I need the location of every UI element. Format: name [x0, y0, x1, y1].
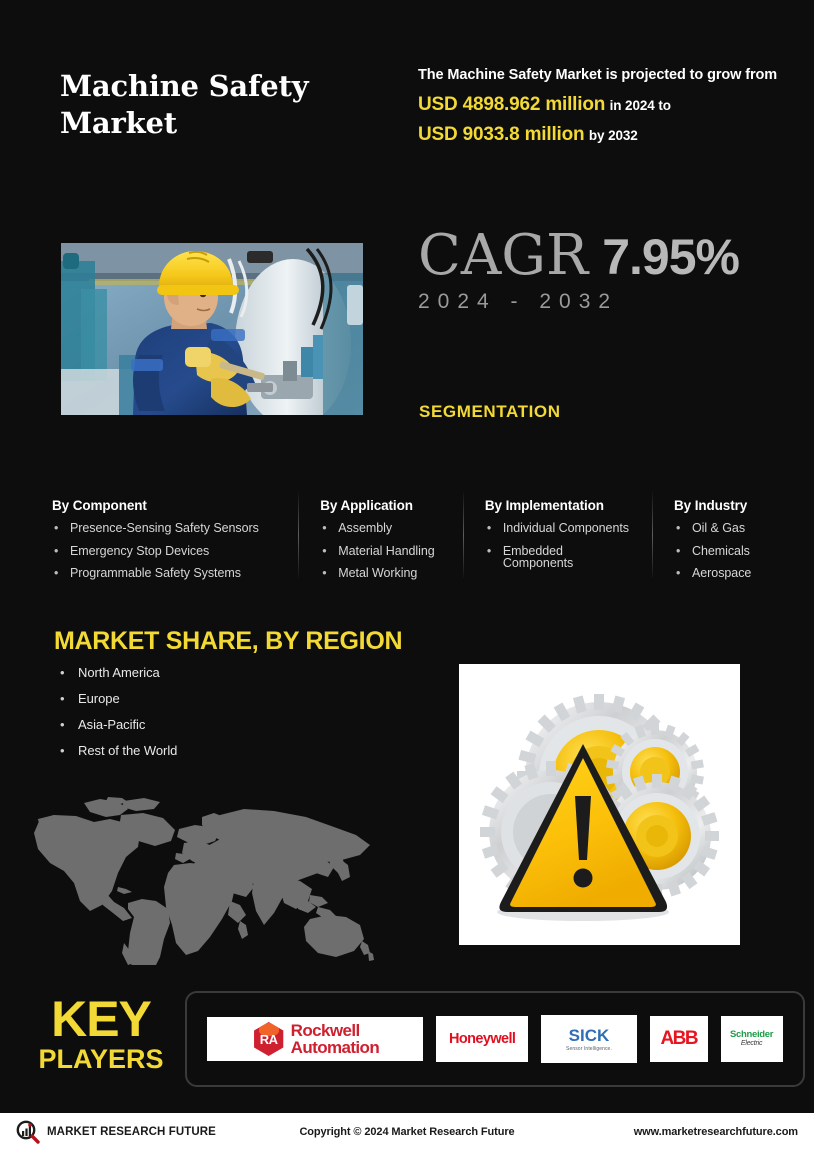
warning-triangle-gears-image: [459, 664, 740, 945]
bullet-icon: •: [322, 545, 326, 558]
segmentation-list: •Oil & Gas •Chemicals •Aerospace: [674, 522, 750, 580]
segmentation-list: •Presence-Sensing Safety Sensors •Emerge…: [52, 522, 276, 580]
industrial-worker-photo: [61, 243, 363, 415]
bullet-icon: •: [487, 545, 491, 558]
key-players-line1: KEY: [26, 996, 176, 1043]
list-item-label: Material Handling: [338, 544, 434, 558]
list-item-label: Europe: [78, 691, 120, 706]
schneider-line1: Schneider: [730, 1030, 773, 1040]
list-item: •North America: [56, 665, 177, 680]
market-share-region-list: •North America •Europe •Asia-Pacific •Re…: [56, 665, 177, 769]
rockwell-badge-icon: RA: [252, 1022, 286, 1056]
footer-copyright: Copyright © 2024 Market Research Future: [246, 1126, 568, 1138]
logo-honeywell: Honeywell: [436, 1016, 528, 1062]
segmentation-list: •Individual Components •Embedded Compone…: [485, 522, 630, 570]
rockwell-line1: Rockwell: [291, 1022, 379, 1039]
list-item: •Assembly: [320, 522, 441, 535]
projection-end-tail: by 2032: [589, 128, 638, 143]
rockwell-logo-wrap: RA Rockwell Automation: [246, 1022, 385, 1056]
segmentation-heading: By Application: [320, 498, 441, 513]
title-block: Machine Safety Market: [60, 68, 390, 142]
list-item-label: Individual Components: [503, 521, 629, 535]
list-item: •Asia-Pacific: [56, 717, 177, 732]
list-item-label: Programmable Safety Systems: [70, 566, 241, 580]
list-item: •Metal Working: [320, 567, 441, 580]
bullet-icon: •: [487, 522, 491, 535]
segmentation-column-industry: By Industry •Oil & Gas •Chemicals •Aeros…: [644, 498, 764, 590]
footer-brand-text: MARKET RESEARCH FUTURE: [47, 1126, 216, 1138]
projection-lead: The Machine Safety Market is projected t…: [418, 66, 788, 86]
key-players-line2: PLAYERS: [26, 1045, 176, 1075]
projection-start-tail: in 2024 to: [610, 98, 671, 113]
footer-bar: MARKET RESEARCH FUTURE Copyright © 2024 …: [0, 1113, 814, 1150]
world-map-silhouette: [24, 795, 384, 965]
list-item-label: Aerospace: [692, 566, 751, 580]
cagr-period: 2024 - 2032: [418, 290, 739, 314]
column-divider: [463, 492, 464, 578]
segmentation-heading: By Implementation: [485, 498, 630, 513]
bullet-icon: •: [676, 522, 680, 535]
list-item: •Aerospace: [674, 567, 750, 580]
segmentation-column-application: By Application •Assembly •Material Handl…: [290, 498, 455, 590]
segmentation-heading: By Industry: [674, 498, 750, 513]
logo-schneider-electric: Schneider Electric: [721, 1016, 783, 1062]
sick-wordmark: SICK: [566, 1027, 612, 1044]
bullet-icon: •: [322, 567, 326, 580]
segmentation-column-implementation: By Implementation •Individual Components…: [455, 498, 644, 590]
honeywell-wordmark: Honeywell: [449, 1031, 515, 1047]
segmentation-heading: By Component: [52, 498, 276, 513]
logo-abb: ABB: [650, 1016, 708, 1062]
sick-tagline: Sensor Intelligence.: [566, 1047, 612, 1052]
column-divider: [298, 492, 299, 578]
list-item: •Presence-Sensing Safety Sensors: [52, 522, 276, 535]
projection-block: The Machine Safety Market is projected t…: [418, 66, 788, 147]
bullet-icon: •: [54, 567, 58, 580]
bullet-icon: •: [322, 522, 326, 535]
segmentation-column-component: By Component •Presence-Sensing Safety Se…: [52, 498, 290, 590]
key-players-logo-box: RA Rockwell Automation Honeywell SICK Se…: [185, 991, 805, 1087]
cagr-value: 7.95%: [602, 232, 739, 282]
page-title: Machine Safety Market: [60, 68, 390, 142]
bullet-icon: •: [676, 545, 680, 558]
list-item: •Chemicals: [674, 545, 750, 558]
abb-wordmark: ABB: [660, 1028, 697, 1050]
bullet-icon: •: [60, 717, 65, 732]
column-divider: [652, 492, 653, 578]
cagr-label: CAGR: [418, 228, 588, 284]
list-item: •Europe: [56, 691, 177, 706]
bullet-icon: •: [60, 743, 65, 758]
list-item-label: Emergency Stop Devices: [70, 544, 209, 558]
bullet-icon: •: [54, 522, 58, 535]
list-item: •Embedded Components: [485, 545, 630, 570]
list-item: •Emergency Stop Devices: [52, 545, 276, 558]
list-item: •Material Handling: [320, 545, 441, 558]
projection-end-value: USD 9033.8 million: [418, 124, 584, 145]
list-item-label: Embedded Components: [503, 544, 573, 571]
sick-logo-wrap: SICK Sensor Intelligence.: [566, 1027, 612, 1052]
list-item-label: Presence-Sensing Safety Sensors: [70, 521, 259, 535]
bullet-icon: •: [676, 567, 680, 580]
schneider-logo-wrap: Schneider Electric: [730, 1030, 773, 1047]
key-players-label: KEY PLAYERS: [26, 996, 176, 1075]
projection-end-line: USD 9033.8 million by 2032: [418, 123, 788, 147]
segmentation-label: SEGMENTATION: [419, 402, 561, 422]
list-item-label: Assembly: [338, 521, 392, 535]
segmentation-list: •Assembly •Material Handling •Metal Work…: [320, 522, 441, 580]
list-item: •Rest of the World: [56, 743, 177, 758]
footer-brand: MARKET RESEARCH FUTURE: [16, 1120, 246, 1144]
market-research-future-logo-icon: [16, 1120, 40, 1144]
footer-url[interactable]: www.marketresearchfuture.com: [568, 1126, 798, 1138]
list-item: •Individual Components: [485, 522, 630, 535]
segmentation-columns: By Component •Presence-Sensing Safety Se…: [52, 498, 764, 590]
list-item: •Programmable Safety Systems: [52, 567, 276, 580]
list-item: •Oil & Gas: [674, 522, 750, 535]
list-item-label: Oil & Gas: [692, 521, 745, 535]
logo-rockwell-automation: RA Rockwell Automation: [207, 1017, 423, 1061]
cagr-block: CAGR 7.95% 2024 - 2032: [418, 228, 739, 314]
cagr-row: CAGR 7.95%: [418, 228, 739, 284]
list-item-label: Rest of the World: [78, 743, 177, 758]
bullet-icon: •: [54, 545, 58, 558]
list-item-label: Chemicals: [692, 544, 750, 558]
bullet-icon: •: [60, 665, 65, 680]
rockwell-line2: Automation: [291, 1039, 379, 1056]
rockwell-wordmark: Rockwell Automation: [291, 1022, 379, 1056]
projection-start-value: USD 4898.962 million: [418, 94, 605, 115]
list-item-label: Metal Working: [338, 566, 417, 580]
bullet-icon: •: [60, 691, 65, 706]
market-share-title: MARKET SHARE, BY REGION: [54, 627, 402, 656]
list-item-label: North America: [78, 665, 160, 680]
rockwell-badge-text: RA: [260, 1032, 278, 1047]
list-item-label: Asia-Pacific: [78, 717, 145, 732]
projection-start-line: USD 4898.962 million in 2024 to: [418, 93, 788, 117]
schneider-line2: Electric: [730, 1040, 773, 1047]
logo-sick: SICK Sensor Intelligence.: [541, 1015, 637, 1063]
